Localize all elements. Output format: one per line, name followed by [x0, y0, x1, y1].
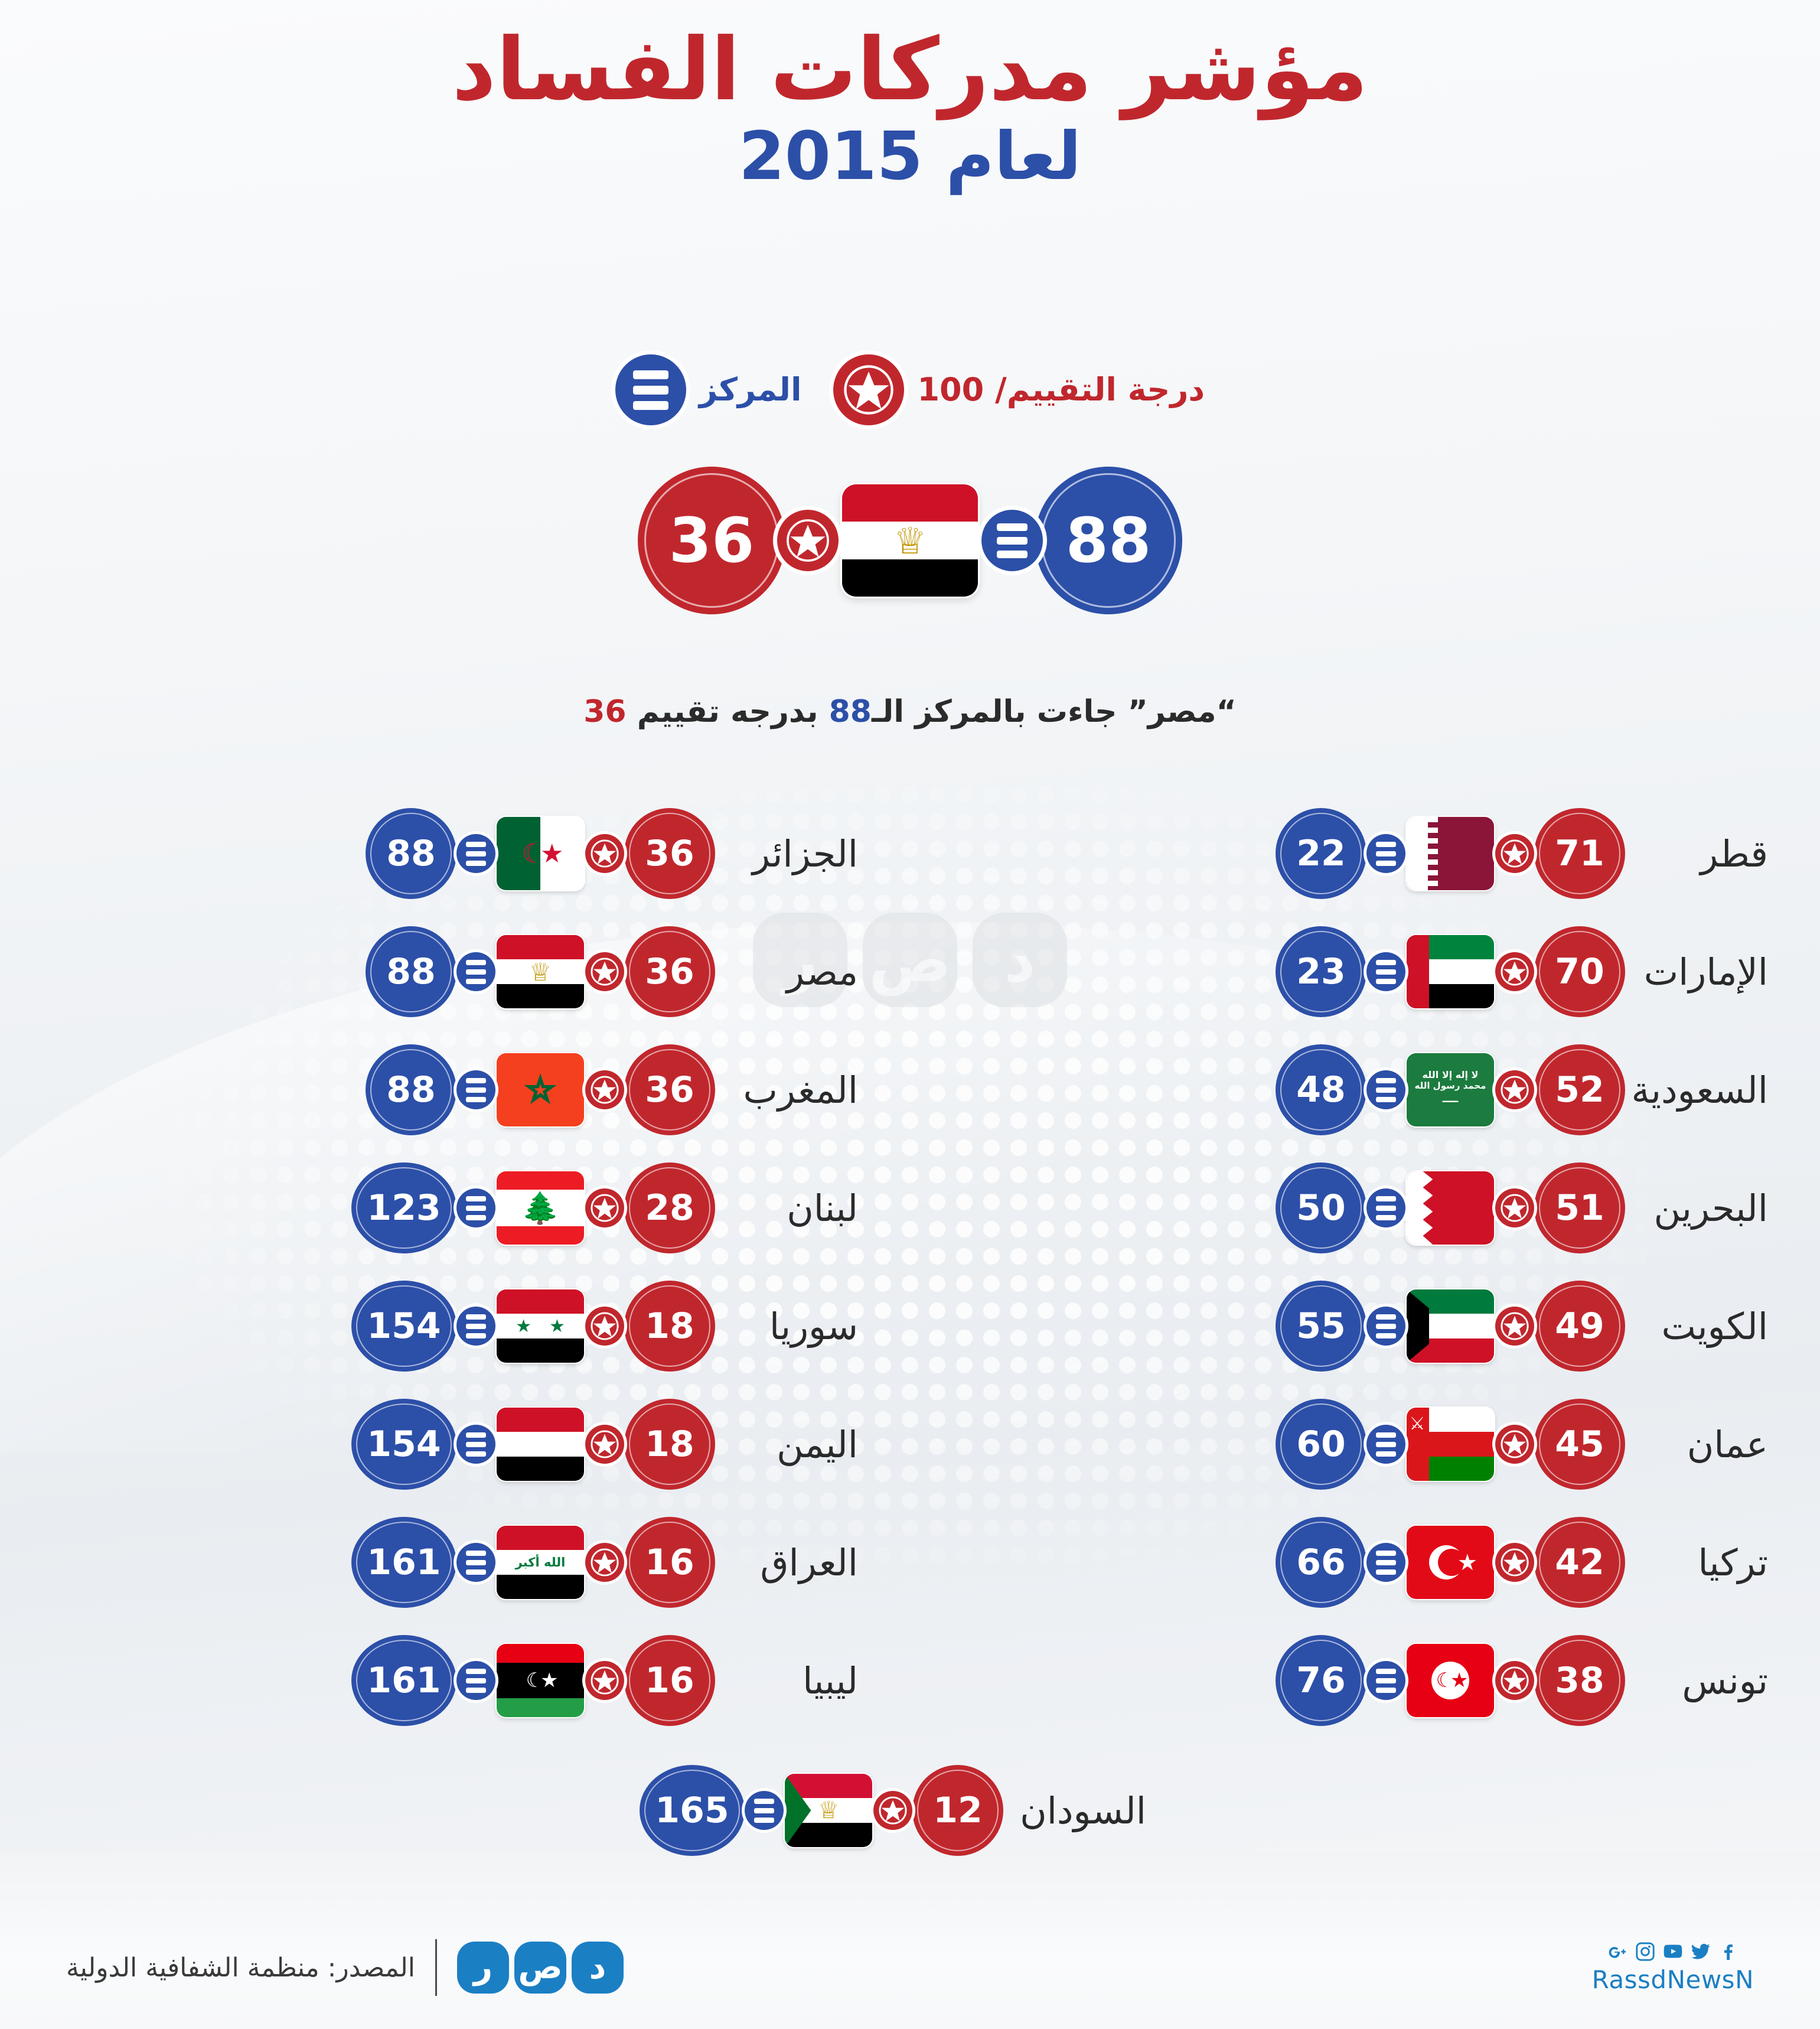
flag-المغرب: ☆ — [497, 1053, 584, 1126]
score-value: 70 — [1534, 926, 1625, 1017]
flag-الإمارات — [1407, 935, 1494, 1008]
flag-السودان: ♕ — [785, 1774, 872, 1847]
score-value: 36 — [624, 926, 715, 1017]
rank-value: 50 — [1276, 1162, 1366, 1253]
star-icon — [585, 1425, 624, 1464]
page-title: مؤشر مدركات الفساد — [0, 24, 1820, 117]
country-metrics: 154 ★★18 — [370, 1281, 696, 1372]
country-row: السودان165 ♕12 — [658, 1751, 1162, 1870]
rank-value: 88 — [366, 1044, 456, 1135]
legend-item-rank: المركز — [615, 354, 802, 425]
score-value: 36 — [624, 808, 715, 899]
score-value: 16 — [624, 1517, 715, 1608]
country-metrics: 165 ♕12 — [658, 1765, 984, 1856]
country-row: المغرب88 ☆36 — [0, 1031, 910, 1149]
star-icon — [585, 952, 624, 991]
country-row: السعودية48 لا إله إلا اللهمحمد رسول الله… — [910, 1031, 1820, 1149]
social-handle: RassdNewsN — [1592, 1965, 1754, 1994]
social-icons[interactable] — [1592, 1942, 1754, 1962]
country-row: ليبيا161 ☾★16 — [0, 1621, 910, 1740]
score-value: 71 — [1534, 808, 1625, 899]
hero-egypt-highlight: 88 ♕ 36 — [0, 467, 1820, 614]
flag-egypt: ♕ — [842, 484, 978, 597]
country-row: لبنان123 🌲28 — [0, 1149, 910, 1267]
list-lines-icon — [456, 1188, 495, 1227]
list-lines-icon — [456, 1543, 495, 1582]
page-footer: RassdNewsN د ص ر المصدر: منظمة الشفافية … — [0, 1906, 1820, 2029]
facebook-icon — [1718, 1942, 1739, 1962]
legend: درجة التقييم/ 100 المركز — [0, 354, 1820, 425]
twitter-icon — [1691, 1942, 1711, 1962]
hero-caption: “مصر” جاءت بالمركز الـ88 بدرجه تقييم 36 — [0, 694, 1820, 729]
rank-value: 48 — [1276, 1044, 1366, 1135]
list-lines-icon — [745, 1791, 784, 1830]
country-row: عمان60 ⚔45 — [910, 1385, 1820, 1503]
page-subtitle: لعام 2015 — [0, 120, 1820, 193]
country-metrics: 123 🌲28 — [370, 1162, 696, 1253]
country-label: المغرب — [696, 1069, 873, 1112]
flag-مصر: ♕ — [497, 935, 584, 1008]
country-label: البحرين — [1606, 1187, 1783, 1230]
star-icon — [1495, 1188, 1534, 1227]
footer-divider — [435, 1939, 437, 1996]
list-lines-icon — [1366, 834, 1405, 873]
caption-part-mid: بدرجه تقييم — [627, 694, 829, 729]
country-metrics: 48 لا إله إلا اللهمحمد رسول الله ⎯⎯52 — [1294, 1044, 1606, 1135]
page-header: مؤشر مدركات الفساد لعام 2015 — [0, 24, 1820, 193]
star-icon — [585, 1661, 624, 1700]
youtube-icon — [1663, 1942, 1683, 1962]
country-label: لبنان — [696, 1187, 873, 1230]
score-value: 52 — [1534, 1044, 1625, 1135]
rank-value: 60 — [1276, 1399, 1366, 1490]
legend-rank-label: المركز — [699, 374, 802, 406]
logo-letter: د — [572, 1942, 624, 1994]
list-lines-icon — [456, 1425, 495, 1464]
country-row: سوريا154 ★★18 — [0, 1267, 910, 1385]
country-row: الكويت55 49 — [910, 1267, 1820, 1385]
country-row: مصر88 ♕36 — [0, 913, 910, 1031]
country-row: تركيا66 ★42 — [910, 1503, 1820, 1621]
list-lines-icon — [456, 1307, 495, 1346]
flag-اليمن — [497, 1408, 584, 1481]
country-row: العراق161 الله أكبر16 — [0, 1503, 910, 1621]
rank-value: 66 — [1276, 1517, 1366, 1608]
score-value: 45 — [1534, 1399, 1625, 1490]
caption-rank: 88 — [829, 694, 872, 729]
score-value: 16 — [624, 1635, 715, 1726]
hero-score-value: 36 — [638, 467, 785, 614]
list-lines-icon — [456, 1661, 495, 1700]
flag-السعودية: لا إله إلا اللهمحمد رسول الله ⎯⎯ — [1407, 1053, 1494, 1126]
rank-value: 22 — [1276, 808, 1366, 899]
country-metrics: 88 ♕36 — [384, 926, 696, 1017]
country-metrics: 66 ★42 — [1294, 1517, 1606, 1608]
list-lines-icon — [1366, 1188, 1405, 1227]
country-row: تونس76 ☾★38 — [910, 1621, 1820, 1740]
star-icon — [873, 1791, 912, 1830]
rank-value: 88 — [366, 926, 456, 1017]
list-lines-icon — [1366, 1543, 1405, 1582]
country-label: عمان — [1606, 1423, 1783, 1466]
flag-عمان: ⚔ — [1407, 1408, 1494, 1481]
country-metrics: 60 ⚔45 — [1294, 1399, 1606, 1490]
country-metrics: 50 51 — [1294, 1162, 1606, 1253]
logo-letter: ر — [457, 1942, 509, 1994]
rank-value: 161 — [351, 1517, 456, 1608]
score-value: 51 — [1534, 1162, 1625, 1253]
star-icon — [777, 510, 839, 571]
score-value: 42 — [1534, 1517, 1625, 1608]
flag-البحرين — [1407, 1171, 1494, 1245]
country-metrics: 76 ☾★38 — [1294, 1635, 1606, 1726]
country-row: قطر22 71 — [910, 794, 1820, 913]
score-value: 38 — [1534, 1635, 1625, 1726]
list-lines-icon — [1366, 1070, 1405, 1109]
logo-letter: ص — [514, 1942, 566, 1994]
country-row: الجزائر88 ☾★36 — [0, 794, 910, 913]
star-icon — [585, 1188, 624, 1227]
rank-value: 123 — [351, 1162, 456, 1253]
country-metrics: 88 ☆36 — [384, 1044, 696, 1135]
rank-value: 161 — [351, 1635, 456, 1726]
star-icon — [585, 1543, 624, 1582]
country-label: الجزائر — [696, 832, 873, 875]
flag-تونس: ☾★ — [1407, 1644, 1494, 1717]
googleplus-icon — [1607, 1942, 1627, 1962]
rank-value: 76 — [1276, 1635, 1366, 1726]
rank-value: 88 — [366, 808, 456, 899]
country-row: اليمن15418 — [0, 1385, 910, 1503]
country-row: الإمارات23 70 — [910, 913, 1820, 1031]
instagram-icon — [1635, 1942, 1655, 1962]
rank-value: 154 — [351, 1281, 456, 1372]
star-icon — [1495, 1543, 1534, 1582]
list-lines-icon — [456, 1070, 495, 1109]
country-label: العراق — [696, 1541, 873, 1584]
flag-قطر — [1407, 817, 1494, 890]
rank-value: 154 — [351, 1399, 456, 1490]
flag-لبنان: 🌲 — [497, 1171, 584, 1245]
country-metrics: 161 ☾★16 — [370, 1635, 696, 1726]
rank-value: 23 — [1276, 926, 1366, 1017]
country-label: قطر — [1606, 832, 1783, 875]
star-icon — [1495, 1070, 1534, 1109]
list-lines-icon — [1366, 1425, 1405, 1464]
country-metrics: 23 70 — [1294, 926, 1606, 1017]
flag-الجزائر: ☾★ — [497, 817, 584, 890]
flag-تركيا: ★ — [1407, 1526, 1494, 1599]
country-row: البحرين50 51 — [910, 1149, 1820, 1267]
score-value: 12 — [912, 1765, 1003, 1856]
flag-الكويت — [1407, 1289, 1494, 1363]
star-icon — [585, 1307, 624, 1346]
source-text: المصدر: منظمة الشفافية الدولية — [66, 1953, 415, 1983]
country-rows-grid: قطر22 71الجزائر88 ☾★36الإمارات23 70مصر88… — [0, 794, 1820, 1740]
country-label: ليبيا — [696, 1659, 873, 1702]
score-value: 28 — [624, 1162, 715, 1253]
list-lines-icon — [1366, 1661, 1405, 1700]
rassd-logo: د ص ر — [457, 1942, 624, 1994]
country-metrics: 55 49 — [1294, 1281, 1606, 1372]
score-value: 18 — [624, 1281, 715, 1372]
flag-ليبيا: ☾★ — [497, 1644, 584, 1717]
flag-العراق: الله أكبر — [497, 1526, 584, 1599]
star-icon — [1495, 952, 1534, 991]
list-lines-icon — [1366, 1307, 1405, 1346]
country-label: تركيا — [1606, 1541, 1783, 1584]
list-lines-icon — [981, 510, 1043, 571]
flag-سوريا: ★★ — [497, 1289, 584, 1363]
rank-value: 55 — [1276, 1281, 1366, 1372]
country-label: تونس — [1606, 1659, 1783, 1702]
star-icon — [1495, 834, 1534, 873]
score-value: 49 — [1534, 1281, 1625, 1372]
country-label: السودان — [984, 1789, 1162, 1832]
country-label: سوريا — [696, 1305, 873, 1348]
star-icon — [585, 1070, 624, 1109]
country-label: مصر — [696, 950, 873, 994]
country-label: السعودية — [1606, 1069, 1783, 1112]
country-metrics: 161 الله أكبر16 — [370, 1517, 696, 1608]
list-lines-icon — [1366, 952, 1405, 991]
legend-score-label: درجة التقييم/ 100 — [917, 374, 1205, 406]
hero-rank-value: 88 — [1035, 467, 1182, 614]
caption-score: 36 — [583, 694, 626, 729]
star-icon — [1495, 1661, 1534, 1700]
caption-part-dark: “مصر” جاءت بالمركز الـ — [872, 694, 1237, 729]
country-label: اليمن — [696, 1423, 873, 1466]
star-icon — [833, 354, 904, 425]
country-metrics: 22 71 — [1294, 808, 1606, 899]
source-block: د ص ر المصدر: منظمة الشفافية الدولية — [66, 1939, 624, 1996]
country-label: الكويت — [1606, 1305, 1783, 1348]
list-lines-icon — [615, 354, 686, 425]
country-label: الإمارات — [1606, 950, 1783, 994]
star-icon — [1495, 1307, 1534, 1346]
country-metrics: 15418 — [370, 1399, 696, 1490]
score-value: 18 — [624, 1399, 715, 1490]
score-value: 36 — [624, 1044, 715, 1135]
rank-value: 165 — [640, 1765, 745, 1856]
legend-item-score: درجة التقييم/ 100 — [833, 354, 1205, 425]
star-icon — [585, 834, 624, 873]
list-lines-icon — [456, 952, 495, 991]
country-metrics: 88 ☾★36 — [384, 808, 696, 899]
star-icon — [1495, 1425, 1534, 1464]
country-row-sudan-wrap: السودان165 ♕12 — [0, 1751, 1820, 1870]
social-block: RassdNewsN — [1592, 1942, 1754, 1994]
list-lines-icon — [456, 834, 495, 873]
